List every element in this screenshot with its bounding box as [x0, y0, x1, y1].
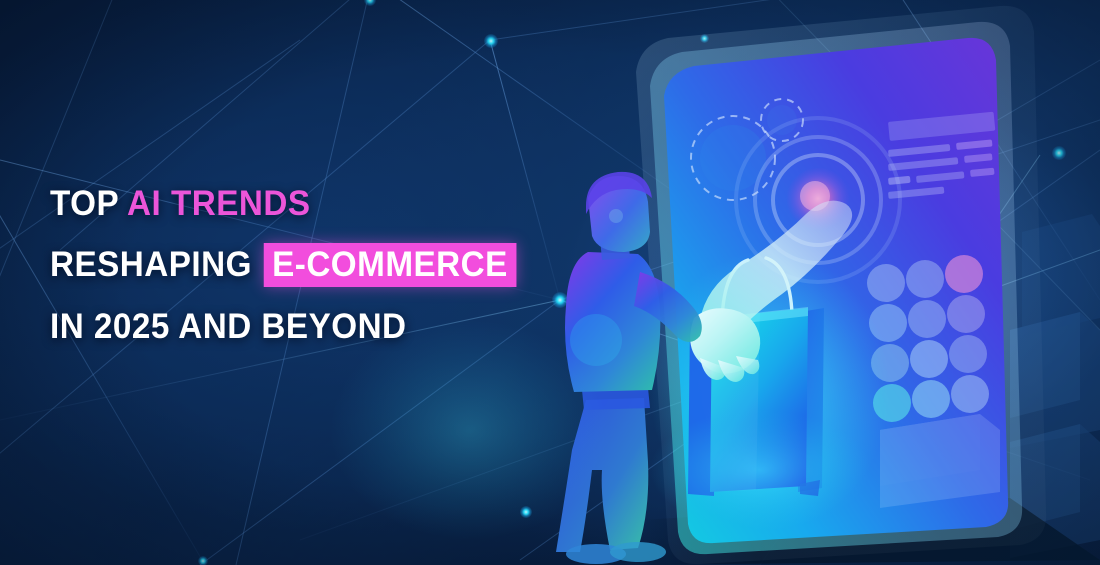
headline-line-2: RESHAPING E-COMMERCE [50, 243, 516, 287]
headline-reshaping: RESHAPING [50, 245, 262, 284]
headline-block: TOP AI TRENDS RESHAPING E-COMMERCE IN 20… [50, 186, 541, 344]
headline-line-3: IN 2025 AND BEYOND [50, 309, 516, 344]
headline-ecommerce-highlight: E-COMMERCE [264, 243, 517, 287]
headline-ai-trends: AI TRENDS [127, 184, 310, 223]
headline-line-1: TOP AI TRENDS [50, 186, 516, 221]
headline-top-word: TOP [50, 184, 127, 223]
banner-root: TOP AI TRENDS RESHAPING E-COMMERCE IN 20… [0, 0, 1100, 565]
